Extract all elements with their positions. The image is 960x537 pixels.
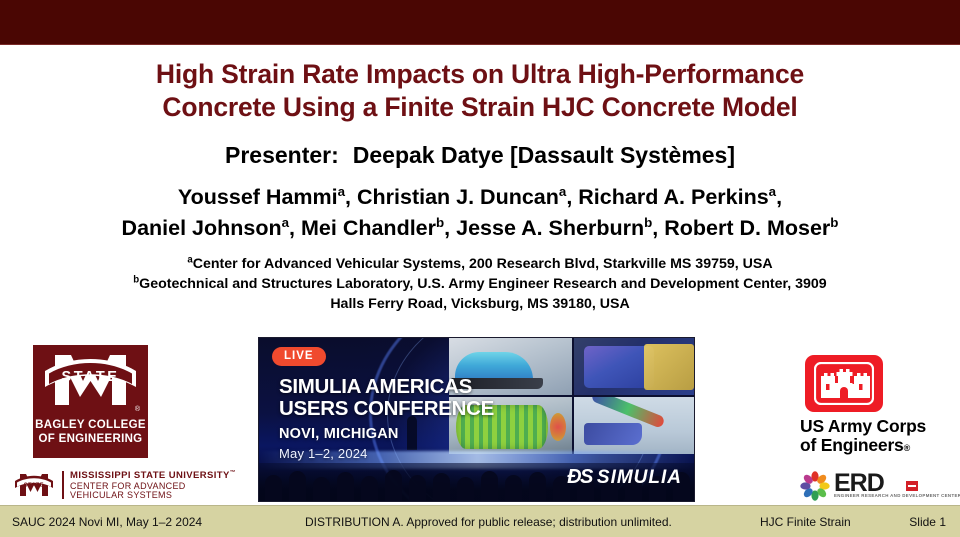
slide-footer: SAUC 2024 Novi MI, May 1–2 2024 DISTRIBU… [0,505,960,537]
cavs-tm-mark: ™ [230,470,236,476]
affiliations-block: aCenter for Advanced Vehicular Systems, … [0,254,960,314]
affiliation-text: Halls Ferry Road, Vicksburg, MS 39180, U… [330,296,629,312]
author-name: Daniel Johnson [122,216,282,240]
conference-title-line-1: SIMULIA AMERICAS [279,375,472,399]
msu-bagley-college-logo: STATE ® BAGLEY COLLEGE OF ENGINEERING [33,345,148,458]
affiliation-line-2: bGeotechnical and Structures Laboratory,… [0,274,960,294]
usace-line-1: US Army Corps [800,416,926,437]
dassault-systemes-icon: ĐS [567,466,592,489]
author-line-2: Daniel Johnsona, Mei Chandlerb, Jesse A.… [0,213,960,244]
author-name: Mei Chandler [301,216,436,240]
presenter-label: Presenter: [225,142,339,168]
cavs-divider [62,471,64,499]
presenter-line: Presenter:Deepak Datye [Dassault Système… [0,141,960,170]
dassault-simulia-brand: ĐS SIMULIA [567,466,682,489]
author-affil-marker: a [282,215,289,230]
erdc-tagline: ENGINEER RESEARCH AND DEVELOPMENT CENTER [834,493,960,498]
blue-part-simulation-thumbnail [574,338,696,395]
simulation-thumbnails-grid [449,338,695,454]
conference-city: NOVI, MICHIGAN [279,426,399,442]
author-name: Richard A. Perkins [578,185,768,209]
erdc-c-accent-icon [906,481,918,491]
author-name: Robert D. Moser [664,216,830,240]
affiliation-line-3: Halls Ferry Road, Vicksburg, MS 39180, U… [0,294,960,314]
simulia-conference-banner-image: LIVE SIMULIA AMERICAS USERS CONFERENCE N… [258,337,695,502]
author-name: Christian J. Duncan [357,185,559,209]
svg-text:STATE: STATE [24,482,44,488]
footer-distribution-statement: DISTRIBUTION A. Approved for public rele… [305,515,672,529]
author-affil-marker: a [338,184,345,199]
conference-dates: May 1–2, 2024 [279,446,368,461]
msu-m-state-small-icon: STATE [12,472,56,498]
author-name: Youssef Hammi [178,185,338,209]
msu-m-state-icon: STATE [33,347,148,413]
author-affil-marker: b [436,215,444,230]
affiliation-line-1: aCenter for Advanced Vehicular Systems, … [0,254,960,274]
footer-deck-name: HJC Finite Strain [760,515,851,529]
author-affil-marker: a [559,184,566,199]
erdc-flower-icon [800,471,830,501]
author-line-1: Youssef Hammia, Christian J. Duncana, Ri… [0,182,960,213]
live-badge: LIVE [272,347,326,366]
erdc-logo: ERD ENGINEER RESEARCH AND DEVELOPMENT CE… [800,470,950,502]
stage-speaker-silhouette [407,416,417,450]
svg-text:STATE: STATE [62,369,120,385]
author-affil-marker: b [830,215,838,230]
excavator-simulation-thumbnail [574,397,696,454]
affiliation-text: Center for Advanced Vehicular Systems, 2… [193,256,773,272]
msu-logo-line-2: OF ENGINEERING [33,432,148,446]
author-affil-marker: b [644,215,652,230]
presentation-slide: High Strain Rate Impacts on Ultra High-P… [0,0,960,537]
footer-event-info: SAUC 2024 Novi MI, May 1–2 2024 [12,515,202,529]
conference-title-line-2: USERS CONFERENCE [279,397,494,421]
slide-title: High Strain Rate Impacts on Ultra High-P… [0,58,960,124]
simulia-wordmark: SIMULIA [597,467,682,489]
author-affil-marker: a [769,184,776,199]
top-banner [0,0,960,45]
footer-slide-number: Slide 1 [909,515,946,529]
usace-registered-mark: ® [904,443,910,453]
presenter-name: Deepak Datye [Dassault Systèmes] [353,142,735,168]
msu-registered-mark: ® [135,406,140,413]
title-line-1: High Strain Rate Impacts on Ultra High-P… [0,58,960,91]
cavs-logo: STATE MISSISSIPPI STATE UNIVERSITY™ CENT… [12,470,212,500]
us-army-corps-of-engineers-logo: US Army Corps of Engineers® [800,355,950,455]
title-line-2: Concrete Using a Finite Strain HJC Concr… [0,91,960,124]
usace-castle-icon [805,355,883,412]
cavs-university-name: MISSISSIPPI STATE UNIVERSITY™ [70,470,236,481]
msu-logo-line-1: BAGLEY COLLEGE [33,418,148,432]
authors-block: Youssef Hammia, Christian J. Duncana, Ri… [0,182,960,244]
author-name: Jesse A. Sherburn [456,216,644,240]
usace-line-2: of Engineers® [800,435,910,456]
cavs-sub-line-2: VEHICULAR SYSTEMS [70,490,172,500]
affiliation-text: Geotechnical and Structures Laboratory, … [139,276,827,292]
